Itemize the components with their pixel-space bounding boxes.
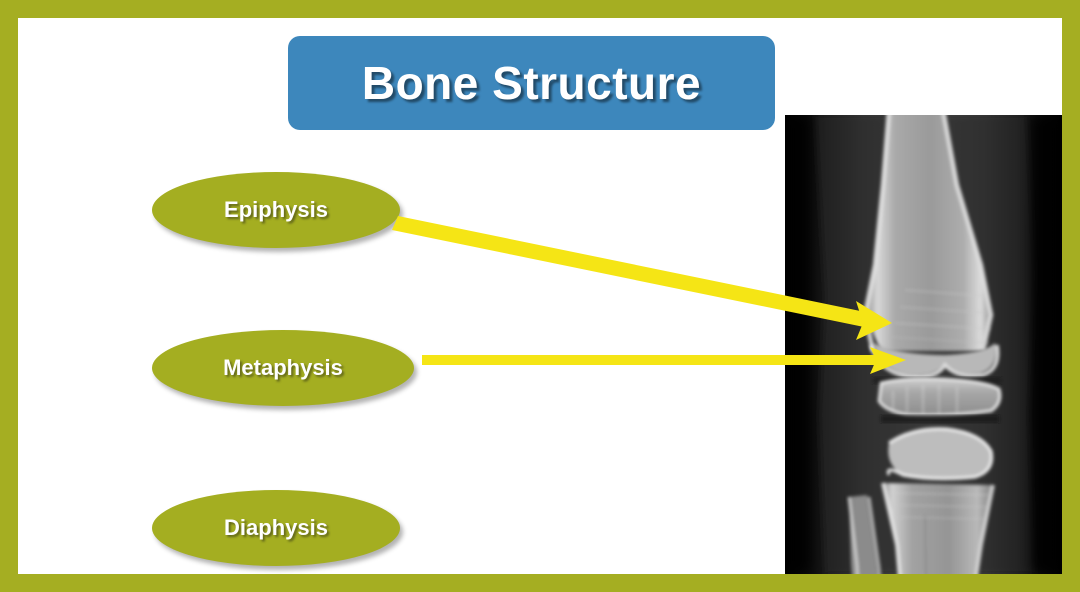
xray-image — [785, 115, 1062, 574]
slide-frame: Bone Structure — [0, 0, 1080, 592]
label-ellipse-diaphysis[interactable]: Diaphysis — [152, 490, 400, 566]
title-banner: Bone Structure — [288, 36, 775, 130]
label-text-diaphysis: Diaphysis — [224, 515, 328, 541]
label-ellipse-epiphysis[interactable]: Epiphysis — [152, 172, 400, 248]
slide-canvas: Bone Structure — [18, 18, 1062, 574]
label-ellipse-metaphysis[interactable]: Metaphysis — [152, 330, 414, 406]
xray-graphic — [785, 115, 1062, 574]
page-title: Bone Structure — [362, 56, 701, 110]
label-text-epiphysis: Epiphysis — [224, 197, 328, 223]
label-text-metaphysis: Metaphysis — [223, 355, 343, 381]
